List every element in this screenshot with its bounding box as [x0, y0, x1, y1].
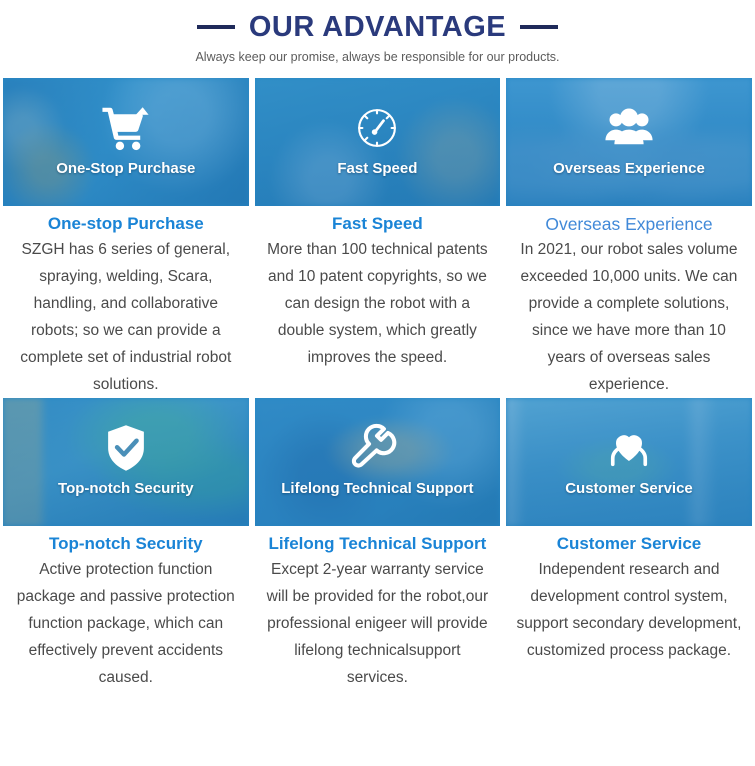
- card-body: Except 2-year warranty service will be p…: [255, 556, 501, 691]
- people-group-icon: [603, 102, 655, 154]
- card-banner[interactable]: Fast Speed: [255, 78, 501, 206]
- shield-check-icon: [100, 422, 152, 474]
- advantage-card-lifelong-technical-support[interactable]: Lifelong Technical Support Lifelong Tech…: [252, 398, 504, 691]
- advantage-grid: One-Stop Purchase One-stop Purchase SZGH…: [0, 78, 755, 691]
- card-body: Independent research and development con…: [506, 556, 752, 664]
- heart-in-hands-icon: [603, 422, 655, 474]
- card-heading: One-stop Purchase: [3, 213, 249, 235]
- shopping-cart-icon: [100, 102, 152, 154]
- banner-label: Lifelong Technical Support: [277, 480, 477, 498]
- card-body: More than 100 technical patents and 10 p…: [255, 236, 501, 371]
- title-row: OUR ADVANTAGE: [0, 10, 755, 44]
- title-dash-right-icon: [520, 25, 558, 29]
- banner-label: Overseas Experience: [549, 160, 709, 178]
- section-header: OUR ADVANTAGE Always keep our promise, a…: [0, 0, 755, 65]
- card-body: In 2021, our robot sales volume exceeded…: [506, 236, 752, 398]
- wrench-icon: [351, 422, 403, 474]
- title-dash-left-icon: [197, 25, 235, 29]
- card-banner[interactable]: Overseas Experience: [506, 78, 752, 206]
- card-banner[interactable]: Top-notch Security: [3, 398, 249, 526]
- advantage-card-customer-service[interactable]: Customer Service Customer Service Indepe…: [503, 398, 755, 691]
- speedometer-icon: [351, 102, 403, 154]
- advantage-card-one-stop-purchase[interactable]: One-Stop Purchase One-stop Purchase SZGH…: [0, 78, 252, 398]
- banner-label: One-Stop Purchase: [52, 160, 199, 178]
- card-body: SZGH has 6 series of general, spraying, …: [3, 236, 249, 398]
- banner-label: Top-notch Security: [54, 480, 198, 498]
- advantage-card-fast-speed[interactable]: Fast Speed Fast Speed More than 100 tech…: [252, 78, 504, 398]
- card-banner[interactable]: Customer Service: [506, 398, 752, 526]
- banner-label: Customer Service: [561, 480, 697, 498]
- card-heading: Fast Speed: [255, 213, 501, 235]
- advantage-card-overseas-experience[interactable]: Overseas Experience Overseas Experience …: [503, 78, 755, 398]
- page-title: OUR ADVANTAGE: [249, 10, 506, 44]
- card-banner[interactable]: Lifelong Technical Support: [255, 398, 501, 526]
- card-body: Active protection function package and p…: [3, 556, 249, 691]
- card-banner[interactable]: One-Stop Purchase: [3, 78, 249, 206]
- card-heading: Lifelong Technical Support: [255, 533, 501, 555]
- card-heading: Overseas Experience: [506, 213, 752, 235]
- card-heading: Customer Service: [506, 533, 752, 555]
- card-heading: Top-notch Security: [3, 533, 249, 555]
- banner-label: Fast Speed: [333, 160, 421, 178]
- section-subtitle: Always keep our promise, always be respo…: [0, 49, 755, 65]
- advantage-card-top-notch-security[interactable]: Top-notch Security Top-notch Security Ac…: [0, 398, 252, 691]
